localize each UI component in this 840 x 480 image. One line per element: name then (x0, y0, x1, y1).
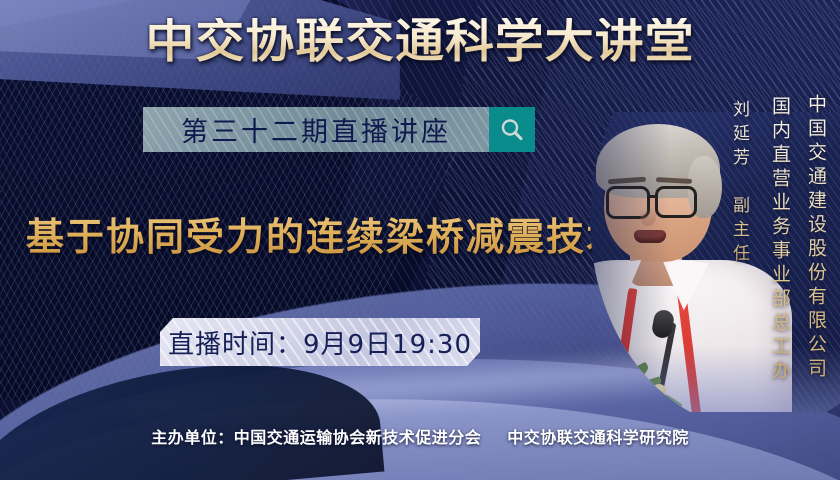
broadcast-time-label: 直播时间：9月9日19:30 (168, 324, 472, 361)
page-title: 中交协联交通科学大讲堂 (0, 18, 840, 65)
speaker-nose (640, 208, 656, 226)
footer-organizer-2: 中交协联交通科学研究院 (507, 428, 689, 447)
glasses-lens-right (655, 186, 697, 218)
subtitle-label: 第三十二期直播讲座 (181, 110, 451, 149)
search-icon (499, 117, 525, 143)
speaker-department: 国内直营业务事业部总工办 (767, 96, 794, 384)
topic-title: 基于协同受力的连续梁桥减震技术 (26, 206, 626, 261)
subtitle-bar: 第三十二期直播讲座 (143, 107, 535, 152)
subtitle-bar-body: 第三十二期直播讲座 (143, 107, 489, 152)
speaker-company: 中国交通建设股份有限公司 (803, 94, 830, 382)
footer-organizer-1: 中国交通运输协会新技术促进分会 (234, 428, 482, 447)
footer-prefix: 主办单位： (151, 428, 234, 447)
poster-canvas: 中交协联交通科学大讲堂 第三十二期直播讲座 基于协同受力的连续梁桥减震技术 直播… (0, 0, 840, 480)
broadcast-time-badge: 直播时间：9月9日19:30 (160, 318, 480, 366)
speaker-mouth (634, 230, 666, 243)
footer-organizers: 主办单位：中国交通运输协会新技术促进分会中交协联交通科学研究院 (0, 424, 840, 448)
speaker-name-title: 刘延芳 副主任 (727, 100, 752, 268)
search-button[interactable] (489, 107, 535, 152)
glasses-bridge (648, 195, 658, 198)
